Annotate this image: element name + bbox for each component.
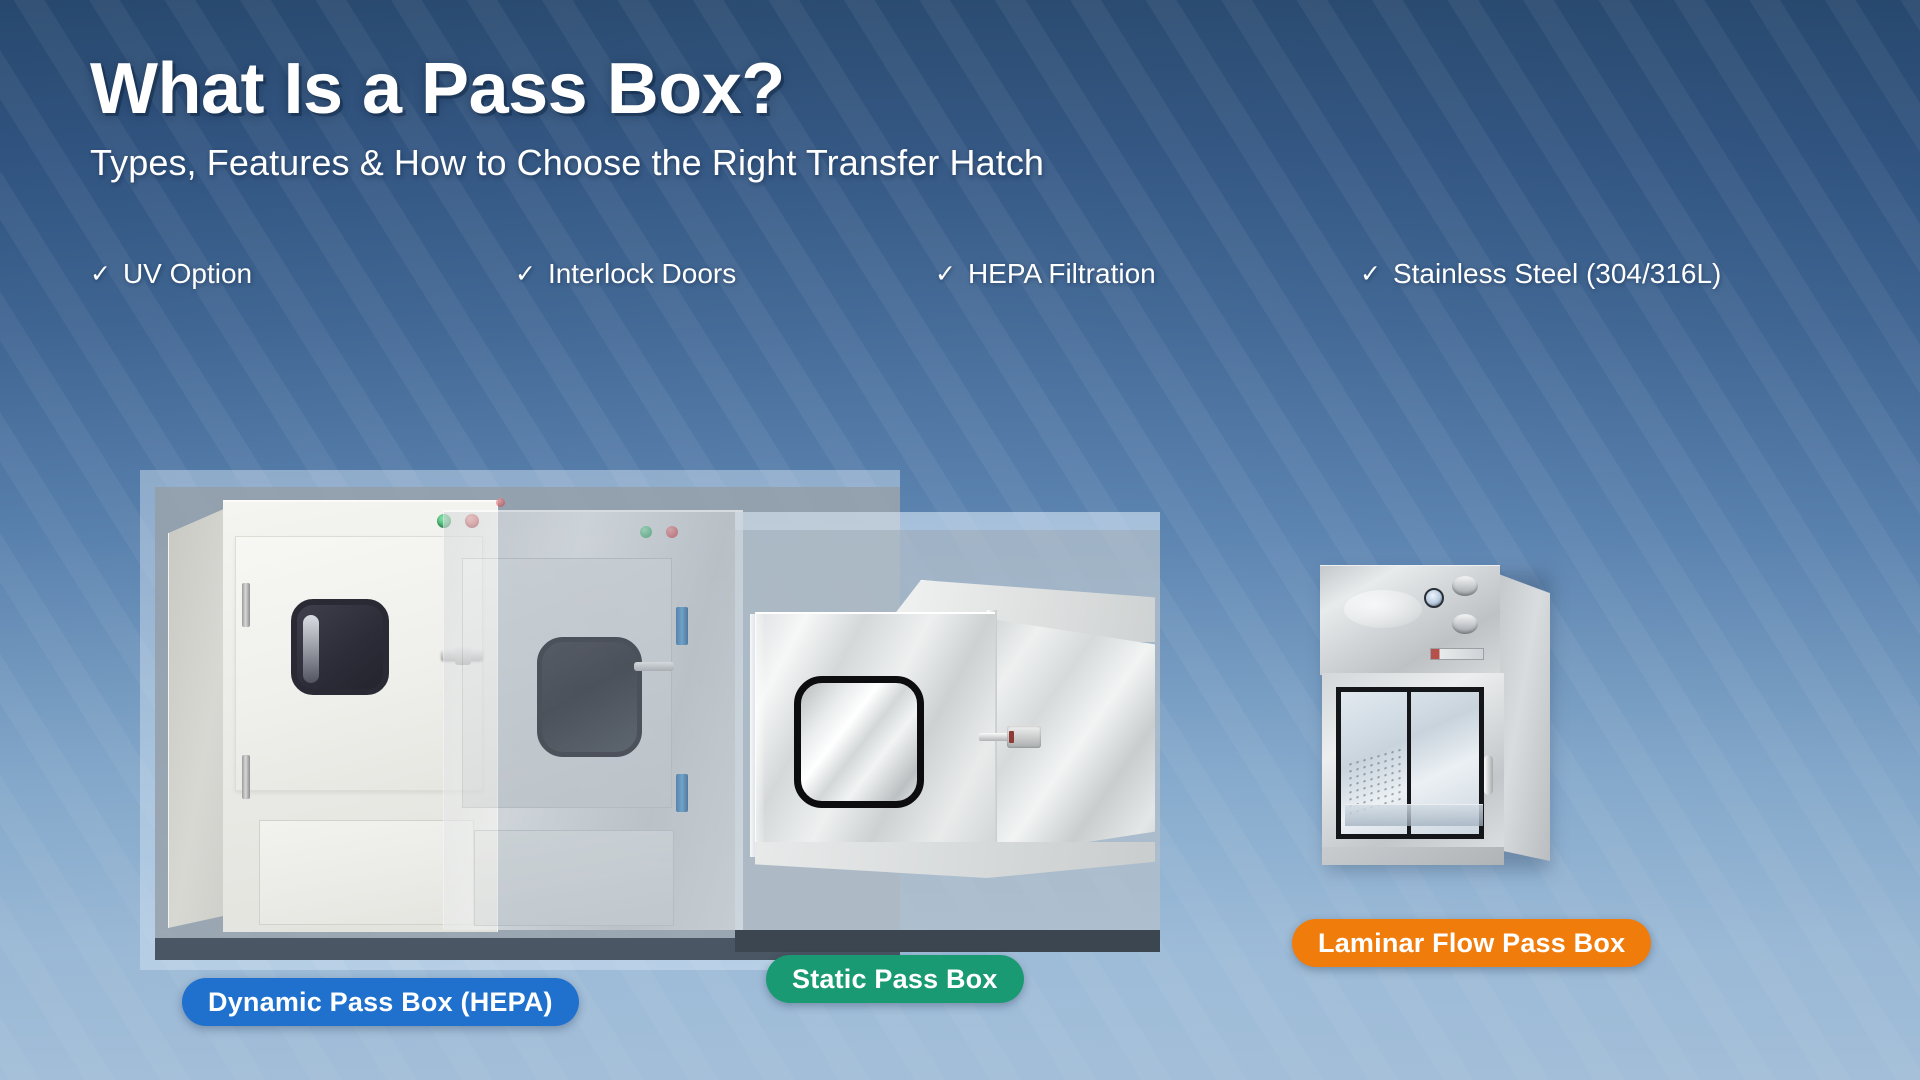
control-knob-upper bbox=[1452, 576, 1478, 596]
product-image-static-pass-box-ghost bbox=[443, 510, 743, 935]
door-handle bbox=[634, 662, 674, 671]
door-hinge-bottom bbox=[676, 774, 688, 812]
cabinet-side-panel bbox=[168, 508, 226, 928]
caption-badge-static-pass-box[interactable]: Static Pass Box bbox=[766, 955, 1024, 1003]
caption-badge-laminar-flow-pass-box[interactable]: Laminar Flow Pass Box bbox=[1292, 919, 1651, 967]
door-handle bbox=[1484, 755, 1493, 795]
stainless-cabinet-body bbox=[443, 510, 743, 930]
door-hinge-top bbox=[676, 607, 688, 645]
product-image-laminar-flow-pass-box bbox=[1320, 565, 1550, 870]
door-hinge-bottom bbox=[242, 755, 250, 799]
cabinet-bottom-face bbox=[755, 842, 1155, 878]
door-hinge-top bbox=[242, 583, 250, 627]
cabinet-lower-panel bbox=[474, 830, 674, 926]
cabinet-side-face bbox=[1496, 573, 1550, 861]
cabinet-base bbox=[1322, 847, 1504, 865]
product-gallery: Dynamic Pass Box (HEPA) Static Pass Box … bbox=[0, 0, 1920, 1080]
cabinet-plenum-section bbox=[1320, 565, 1500, 675]
door-viewing-window bbox=[291, 599, 389, 695]
hinge-screw bbox=[1009, 731, 1014, 743]
plate-baseline-static bbox=[735, 930, 1160, 952]
indicator-dot-icon bbox=[496, 498, 505, 507]
cabinet-door-frame bbox=[1322, 673, 1504, 861]
indicator-lamp-green-icon bbox=[640, 526, 652, 538]
door-viewing-window bbox=[794, 676, 924, 808]
door-hinge bbox=[979, 726, 1041, 748]
caption-badge-dynamic-pass-box[interactable]: Dynamic Pass Box (HEPA) bbox=[182, 978, 579, 1026]
cabinet-door bbox=[462, 558, 672, 808]
pressure-gauge-icon bbox=[1424, 588, 1444, 608]
cabinet-door-face bbox=[755, 612, 995, 857]
poster-canvas: What Is a Pass Box? Types, Features & Ho… bbox=[0, 0, 1920, 1080]
door-viewing-window bbox=[537, 637, 642, 757]
product-image-static-pass-box bbox=[755, 580, 1155, 900]
control-knob-lower bbox=[1452, 614, 1478, 634]
glass-viewing-door bbox=[1336, 687, 1484, 839]
nameplate-label bbox=[1430, 648, 1484, 660]
indicator-lamp-red-icon bbox=[666, 526, 678, 538]
cabinet-lower-panel bbox=[259, 820, 474, 925]
interior-shelf bbox=[1345, 804, 1483, 826]
